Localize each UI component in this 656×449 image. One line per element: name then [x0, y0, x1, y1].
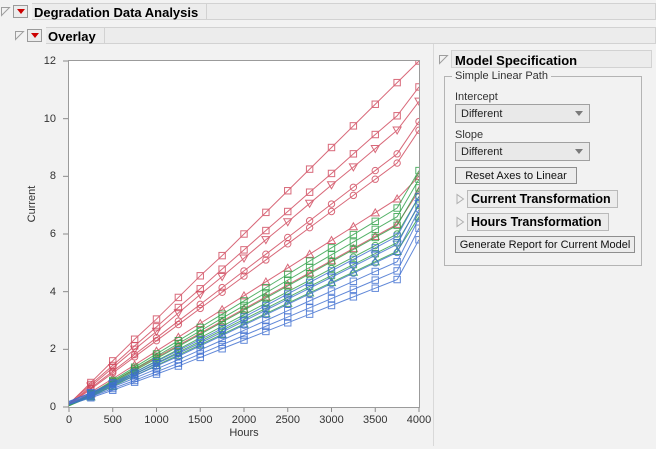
degradation-analysis-window: Degradation Data Analysis Overlay Curren…	[0, 0, 656, 449]
group-legend: Simple Linear Path	[452, 70, 551, 82]
model-specification-title: Model Specification	[451, 50, 652, 68]
triangle-collapse-icon[interactable]	[14, 30, 25, 41]
panel-divider[interactable]	[433, 44, 434, 446]
reset-axes-to-linear-button[interactable]: Reset Axes to Linear	[455, 167, 577, 184]
degradation-curves	[69, 61, 419, 407]
red-dropdown-icon[interactable]	[13, 5, 28, 18]
overlay-title: Overlay	[46, 27, 105, 44]
title-bar-fill	[207, 3, 656, 20]
triangle-expand-icon[interactable]	[455, 216, 465, 228]
model-specification-panel: Model Specification Simple Linear Path I…	[438, 50, 652, 266]
generate-report-button[interactable]: Generate Report for Current Model	[455, 236, 635, 253]
outline-node-degradation-data-analysis[interactable]: Degradation Data Analysis	[0, 2, 656, 21]
hours-transformation-row[interactable]: Hours Transformation	[455, 213, 635, 231]
triangle-collapse-icon[interactable]	[438, 54, 449, 65]
triangle-collapse-icon[interactable]	[0, 6, 11, 17]
plot-area[interactable]	[68, 60, 420, 408]
triangle-expand-icon[interactable]	[455, 193, 465, 205]
red-dropdown-icon[interactable]	[27, 29, 42, 42]
overlay-chart[interactable]: Current Hours 024681012 0500100015002000…	[14, 48, 432, 446]
chevron-down-icon[interactable]	[575, 111, 582, 116]
intercept-label: Intercept	[455, 91, 635, 103]
page-title: Degradation Data Analysis	[32, 3, 207, 20]
hours-transformation-button[interactable]: Hours Transformation	[467, 213, 609, 231]
slope-select[interactable]: Different	[455, 142, 590, 161]
slope-label: Slope	[455, 129, 635, 141]
chevron-down-icon[interactable]	[575, 149, 582, 154]
simple-linear-path-group: Simple Linear Path Intercept Different S…	[444, 76, 642, 266]
model-specification-header[interactable]: Model Specification	[438, 50, 652, 68]
slope-value: Different	[461, 146, 502, 158]
intercept-select[interactable]: Different	[455, 104, 590, 123]
intercept-value: Different	[461, 108, 502, 120]
title-bar-fill	[105, 27, 656, 44]
current-transformation-row[interactable]: Current Transformation	[455, 190, 635, 208]
outline-node-overlay[interactable]: Overlay	[14, 26, 656, 45]
current-transformation-button[interactable]: Current Transformation	[467, 190, 618, 208]
